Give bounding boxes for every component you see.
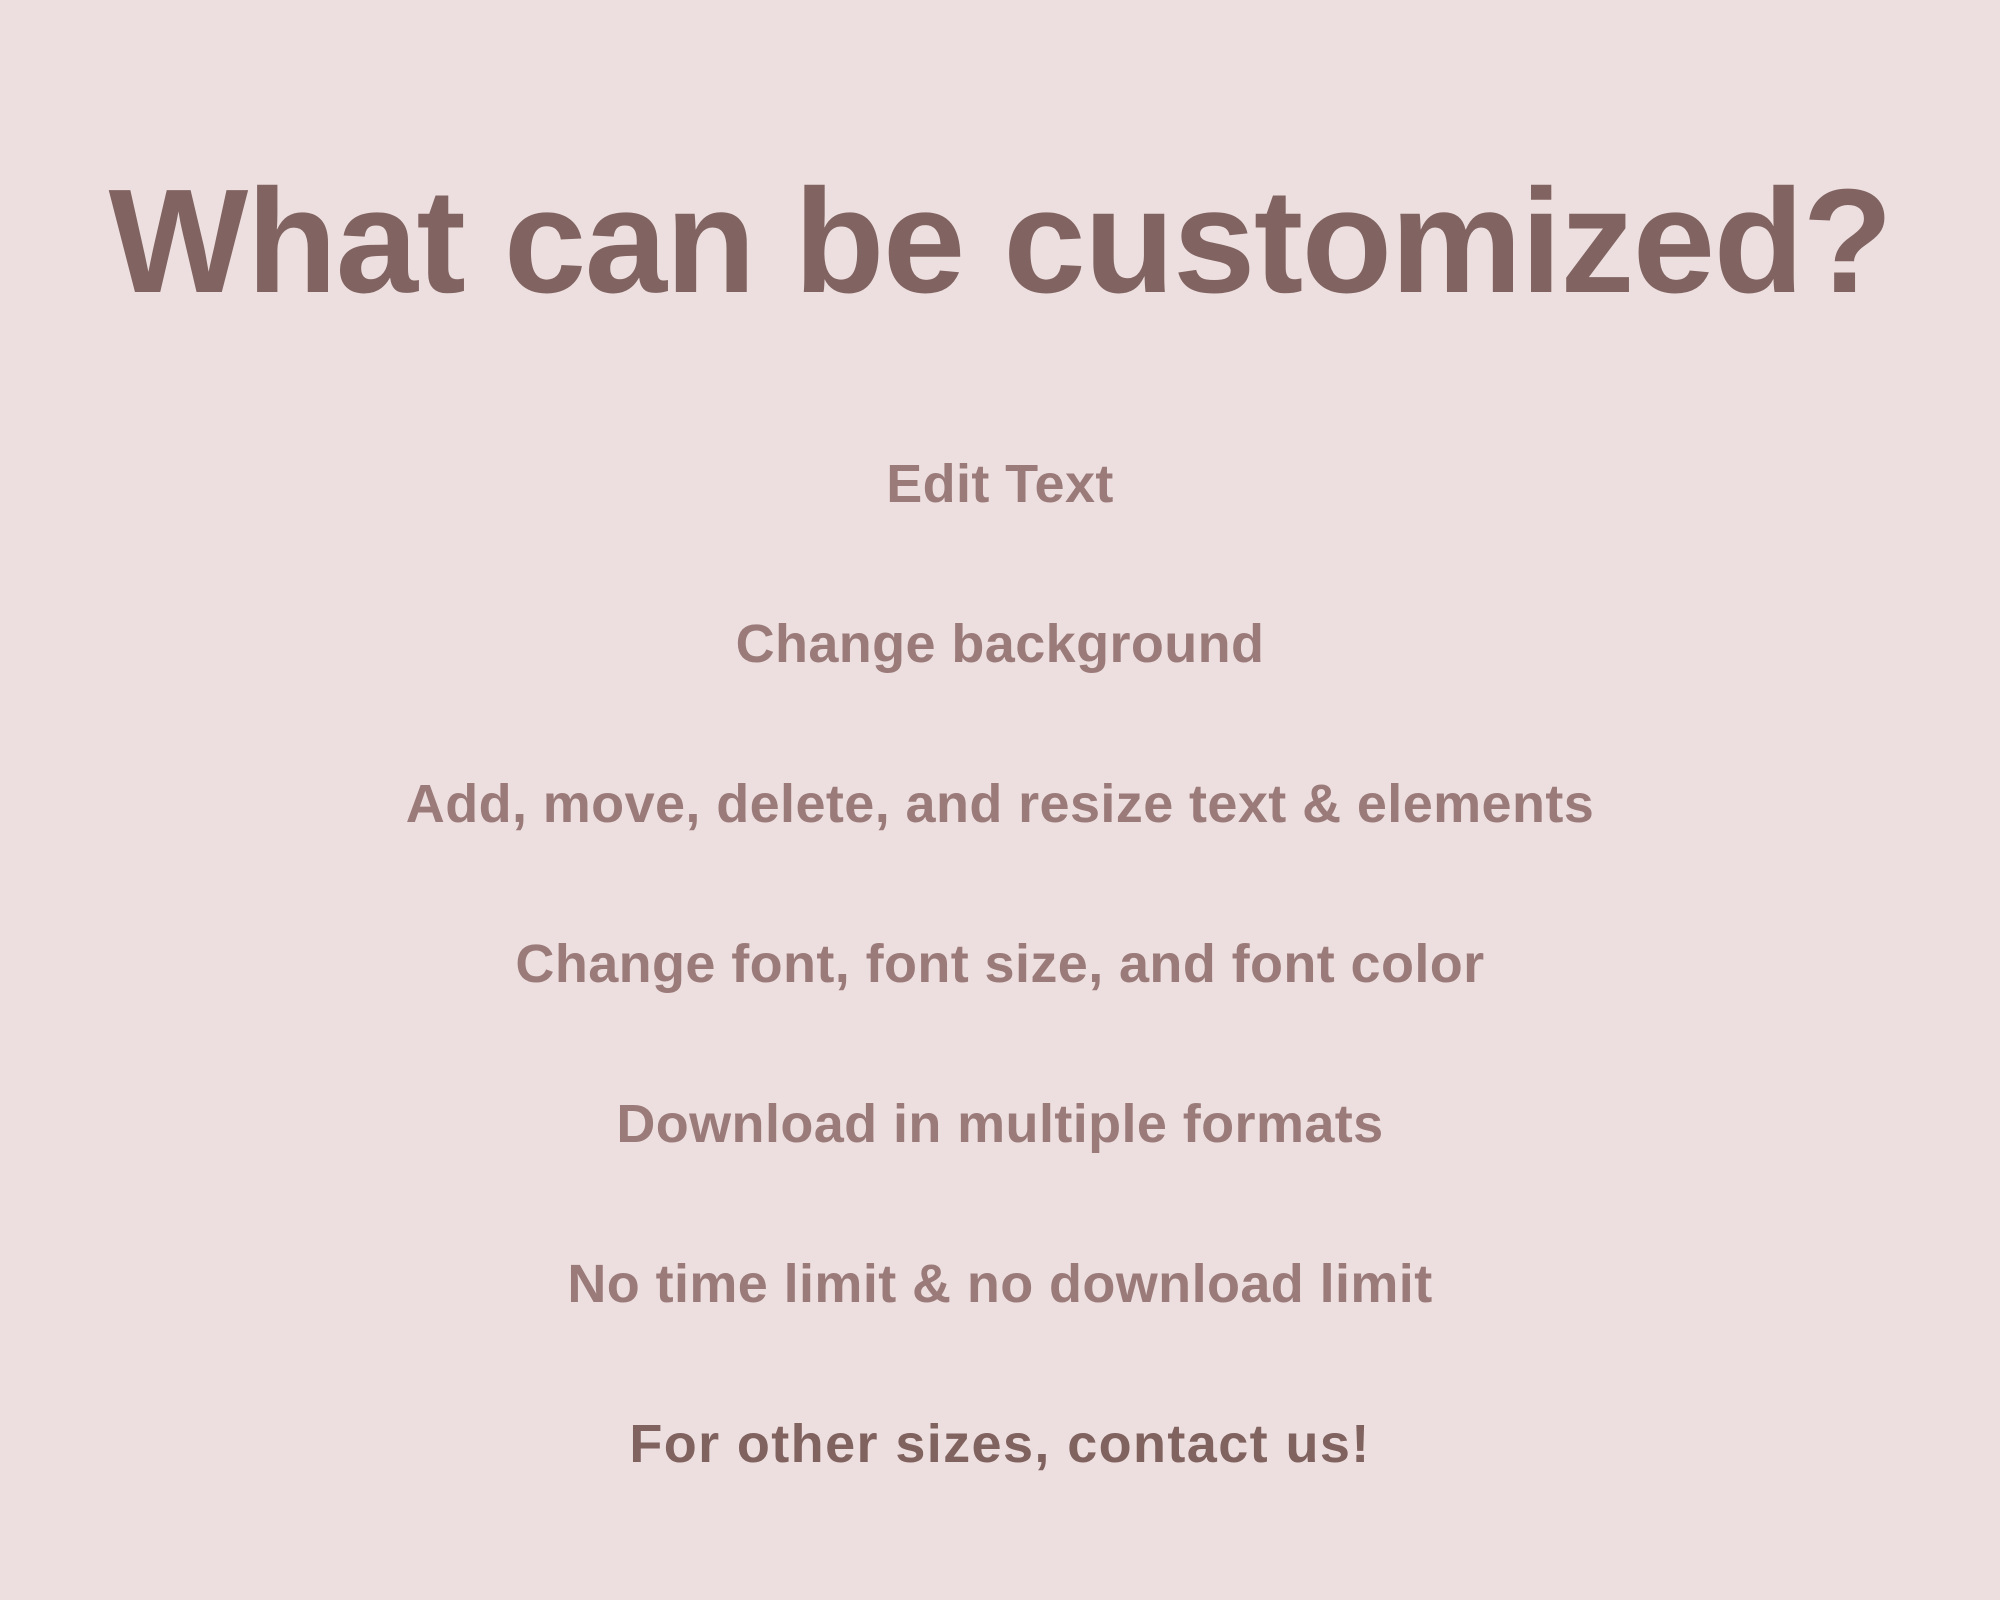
list-item: Edit Text: [0, 404, 2000, 564]
list-item: Change background: [0, 564, 2000, 724]
feature-label-contact-us: For other sizes, contact us!: [629, 1364, 1370, 1524]
feature-label-edit-text: Edit Text: [886, 404, 1114, 564]
list-item: Add, move, delete, and resize text & ele…: [0, 724, 2000, 884]
feature-label-change-font: Change font, font size, and font color: [515, 884, 1484, 1044]
list-item: Download in multiple formats: [0, 1044, 2000, 1204]
list-item-contact: For other sizes, contact us!: [0, 1364, 2000, 1524]
feature-label-no-time-limit: No time limit & no download limit: [567, 1204, 1432, 1364]
list-item: Change font, font size, and font color: [0, 884, 2000, 1044]
feature-label-change-background: Change background: [736, 564, 1265, 724]
list-item: No time limit & no download limit: [0, 1204, 2000, 1364]
page-title: What can be customized?: [0, 168, 2000, 316]
title-block: What can be customized?: [0, 168, 2000, 316]
feature-label-download-formats: Download in multiple formats: [616, 1044, 1383, 1204]
feature-list: Edit Text Change background Add, move, d…: [0, 404, 2000, 1524]
feature-label-add-move-delete-resize: Add, move, delete, and resize text & ele…: [406, 724, 1594, 884]
slide-canvas: What can be customized? Edit Text Change…: [0, 0, 2000, 1600]
